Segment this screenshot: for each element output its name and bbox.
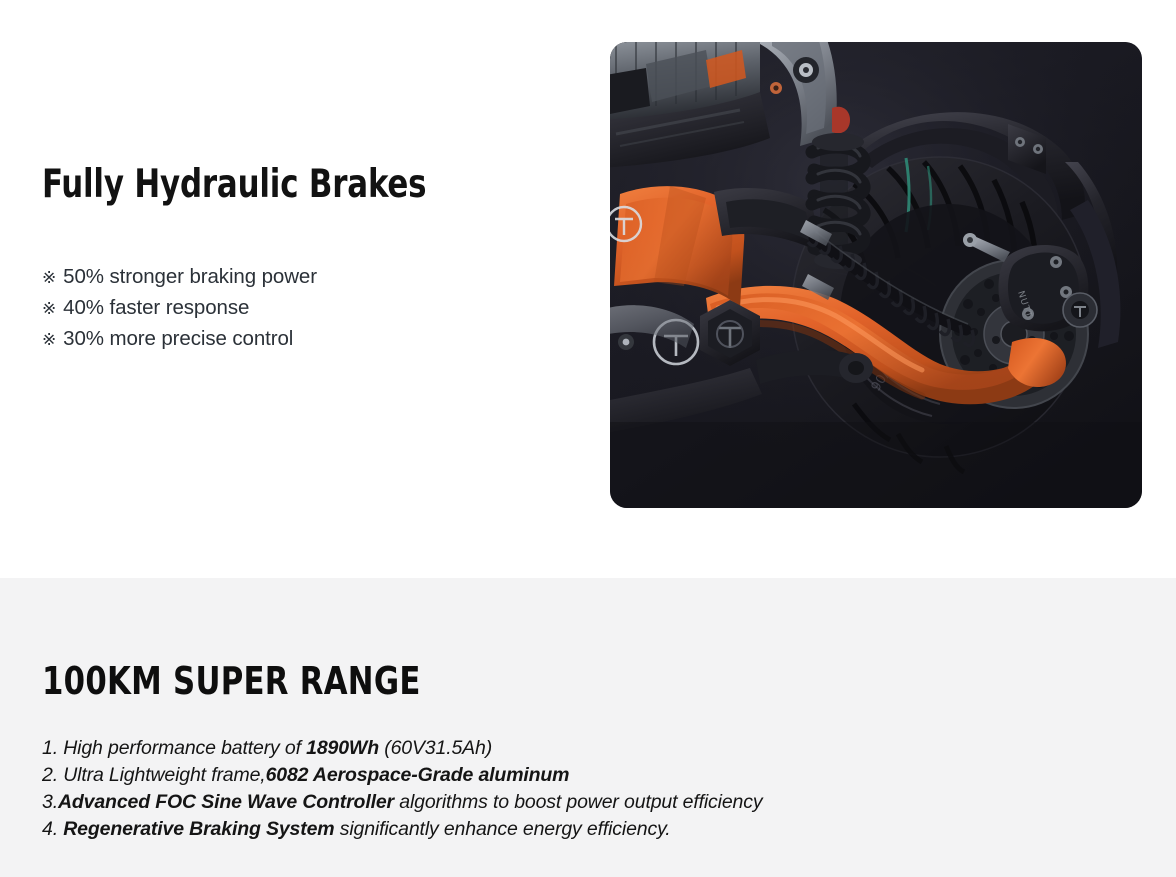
reference-mark-icon: ※ bbox=[42, 263, 56, 293]
spec-number: 2. bbox=[42, 764, 63, 786]
feature-item: ※ 40% faster response bbox=[42, 293, 562, 324]
feature-item: ※ 50% stronger braking power bbox=[42, 262, 562, 293]
spec-tail: significantly enhance energy efficiency. bbox=[334, 818, 670, 840]
spec-emphasis: 6082 Aerospace-Grade aluminum bbox=[266, 764, 570, 786]
spec-number: 1. bbox=[42, 737, 63, 759]
spec-item: 3.Advanced FOC Sine Wave Controller algo… bbox=[42, 789, 1132, 816]
spec-item: 1. High performance battery of 1890Wh (6… bbox=[42, 735, 1132, 762]
feature-text: 50% stronger braking power bbox=[63, 262, 317, 292]
spec-emphasis: Advanced FOC Sine Wave Controller bbox=[58, 791, 394, 813]
spec-lead: High performance battery of bbox=[63, 737, 306, 759]
scooter-photo-graphic: 90/65 bbox=[610, 42, 1142, 508]
feature-text: 30% more precise control bbox=[63, 324, 293, 354]
spec-tail: algorithms to boost power output efficie… bbox=[394, 791, 762, 813]
spec-number: 4. bbox=[42, 818, 63, 840]
reference-mark-icon: ※ bbox=[42, 294, 56, 324]
spec-tail: (60V31.5Ah) bbox=[379, 737, 492, 759]
super-range-section: 100KM SUPER RANGE 1. High performance ba… bbox=[0, 578, 1176, 877]
spec-item: 2. Ultra Lightweight frame,6082 Aerospac… bbox=[42, 762, 1132, 789]
feature-text: 40% faster response bbox=[63, 293, 249, 323]
feature-item: ※ 30% more precise control bbox=[42, 324, 562, 355]
range-copy-block: 100KM SUPER RANGE 1. High performance ba… bbox=[42, 659, 1132, 843]
spec-number: 3. bbox=[42, 791, 58, 813]
range-heading: 100KM SUPER RANGE bbox=[42, 659, 1023, 703]
spec-item: 4. Regenerative Braking System significa… bbox=[42, 816, 1132, 843]
product-feature-page: Fully Hydraulic Brakes ※ 50% stronger br… bbox=[0, 0, 1176, 877]
range-spec-list: 1. High performance battery of 1890Wh (6… bbox=[42, 735, 1132, 843]
spec-lead: Ultra Lightweight frame, bbox=[63, 764, 265, 786]
reference-mark-icon: ※ bbox=[42, 325, 56, 355]
spec-emphasis: Regenerative Braking System bbox=[63, 818, 334, 840]
scooter-brake-photo: 90/65 bbox=[610, 42, 1142, 508]
brakes-feature-list: ※ 50% stronger braking power ※ 40% faste… bbox=[42, 262, 562, 355]
spec-emphasis: 1890Wh bbox=[306, 737, 379, 759]
hydraulic-brakes-section: Fully Hydraulic Brakes ※ 50% stronger br… bbox=[0, 0, 1176, 578]
brakes-copy-block: Fully Hydraulic Brakes ※ 50% stronger br… bbox=[42, 165, 562, 355]
brakes-heading: Fully Hydraulic Brakes bbox=[42, 165, 500, 206]
